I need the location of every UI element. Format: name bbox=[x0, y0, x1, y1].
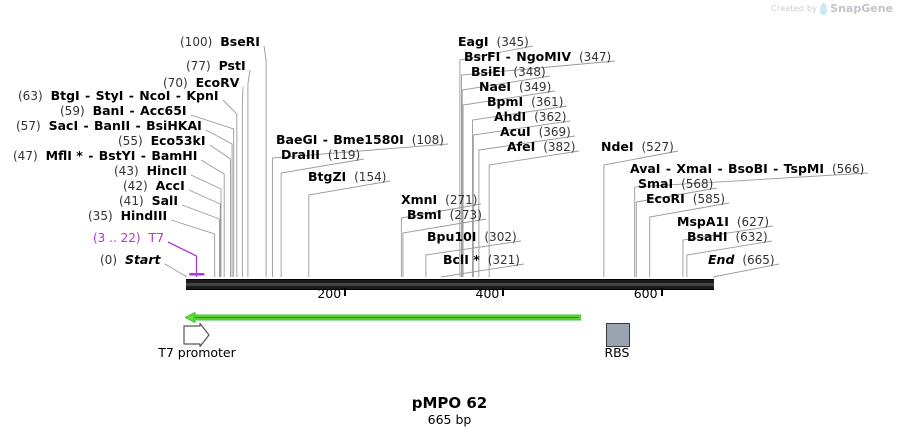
site-label-t7[interactable]: (3 .. 22) T7 bbox=[93, 231, 164, 245]
site-enzymes-bpmi: BpmI bbox=[487, 94, 523, 109]
ruler-label-200: 200 bbox=[317, 286, 344, 301]
site-label-draiii[interactable]: DraIII (119) bbox=[281, 148, 360, 162]
site-enzymes-bsiei: BsiEI bbox=[471, 64, 505, 79]
enzyme-name: BsoBI bbox=[728, 161, 768, 176]
site-label-baegi[interactable]: BaeGI - Bme1580I (108) bbox=[276, 133, 444, 147]
enzyme-name: BtgZI bbox=[308, 169, 346, 184]
restriction-site-labels: (100) BseRI(77) PstI(70) EcoRV(63) BtgI … bbox=[0, 0, 899, 275]
site-enzymes-bsrfi: BsrFI - NgoMIV bbox=[464, 49, 571, 64]
enzyme-name: SalI bbox=[152, 193, 178, 208]
enzyme-name: BseRI bbox=[220, 34, 260, 49]
enzyme-name: SacI bbox=[49, 118, 79, 133]
site-label-bani[interactable]: (59) BanI - Acc65I bbox=[60, 104, 187, 118]
enzyme-name: MflI * bbox=[46, 148, 83, 163]
ruler-tick-200 bbox=[344, 288, 346, 296]
enzyme-name: BsrFI bbox=[464, 49, 500, 64]
site-label-bsahi[interactable]: BsaHI (632) bbox=[687, 230, 768, 244]
site-enzymes-ecori: EcoRI bbox=[646, 191, 685, 206]
site-label-afei[interactable]: AfeI (382) bbox=[507, 140, 575, 154]
site-label-hincii[interactable]: (43) HincII bbox=[114, 164, 187, 178]
site-position-btgzi: (154) bbox=[354, 170, 386, 184]
site-position-acui: (369) bbox=[539, 125, 571, 139]
site-label-ndei[interactable]: NdeI (527) bbox=[601, 140, 674, 154]
enzyme-separator: - bbox=[78, 118, 94, 133]
enzyme-name: Eco53kI bbox=[151, 133, 206, 148]
site-enzymes-afei: AfeI bbox=[507, 139, 535, 154]
site-label-ecori[interactable]: EcoRI (585) bbox=[646, 192, 725, 206]
enzyme-name: BstYI bbox=[99, 148, 136, 163]
site-enzymes-bsahi: BsaHI bbox=[687, 229, 728, 244]
enzyme-separator: - bbox=[768, 161, 784, 176]
site-enzymes-avai: AvaI - XmaI - BsoBI - TspMI bbox=[630, 161, 824, 176]
enzyme-name: BsiEI bbox=[471, 64, 505, 79]
site-enzymes-draiii: DraIII bbox=[281, 147, 320, 162]
enzyme-name: EagI bbox=[458, 34, 489, 49]
enzyme-name: BtgI bbox=[51, 88, 80, 103]
enzyme-name: AhdI bbox=[494, 109, 526, 124]
site-position-t7: (3 .. 22) bbox=[93, 231, 141, 245]
site-position-avai: (566) bbox=[832, 162, 864, 176]
site-enzymes-saci: SacI - BanII - BsiHKAI bbox=[49, 118, 202, 133]
site-enzymes-bsmi: BsmI bbox=[407, 207, 442, 222]
enzyme-name: T7 bbox=[148, 230, 164, 245]
enzyme-name: HincII bbox=[147, 163, 187, 178]
site-label-xmni[interactable]: XmnI (271) bbox=[401, 193, 477, 207]
site-enzymes-baegi: BaeGI - Bme1580I bbox=[276, 132, 404, 147]
site-label-bseri[interactable]: (100) BseRI bbox=[180, 35, 260, 49]
enzyme-separator: - bbox=[660, 161, 676, 176]
site-enzymes-end: End bbox=[708, 252, 734, 267]
site-position-bsahi: (632) bbox=[735, 230, 767, 244]
site-position-bpmi: (361) bbox=[531, 95, 563, 109]
enzyme-separator: - bbox=[80, 88, 96, 103]
site-label-naei[interactable]: NaeI (349) bbox=[479, 80, 551, 94]
site-position-end: (665) bbox=[742, 253, 774, 267]
enzyme-name: TspMI bbox=[784, 161, 824, 176]
enzyme-name: AccI bbox=[156, 178, 185, 193]
enzyme-name: BsiHKAI bbox=[146, 118, 202, 133]
site-position-mfli: (47) bbox=[13, 149, 38, 163]
enzyme-name: End bbox=[708, 252, 734, 267]
enzyme-name: KpnI bbox=[186, 88, 218, 103]
site-enzymes-hindiii: HindIII bbox=[121, 208, 168, 223]
site-label-bsmi[interactable]: BsmI (273) bbox=[407, 208, 482, 222]
site-enzymes-bcli: BclI * bbox=[443, 252, 480, 267]
enzyme-name: Acc65I bbox=[140, 103, 187, 118]
site-position-bseri: (100) bbox=[180, 35, 212, 49]
site-label-mfli[interactable]: (47) MflI * - BstYI - BamHI bbox=[13, 149, 197, 163]
site-enzymes-start: Start bbox=[125, 252, 161, 267]
site-enzymes-sali: SalI bbox=[152, 193, 178, 208]
site-enzymes-acci: AccI bbox=[156, 178, 185, 193]
site-position-bsrfi: (347) bbox=[579, 50, 611, 64]
site-enzymes-btgi: BtgI - StyI - NcoI - KpnI bbox=[51, 88, 219, 103]
site-enzymes-psti: PstI bbox=[219, 58, 246, 73]
site-position-start: (0) bbox=[100, 253, 117, 267]
enzyme-name: BamHI bbox=[151, 148, 197, 163]
site-enzymes-eco53ki: Eco53kI bbox=[151, 133, 206, 148]
site-label-sali[interactable]: (41) SalI bbox=[119, 194, 178, 208]
enzyme-name: BanII bbox=[94, 118, 130, 133]
site-label-psti[interactable]: (77) PstI bbox=[186, 59, 246, 73]
site-enzymes-xmni: XmnI bbox=[401, 192, 437, 207]
enzyme-separator: - bbox=[124, 103, 140, 118]
site-label-bpu10i[interactable]: Bpu10I (302) bbox=[427, 230, 517, 244]
site-label-end[interactable]: End (665) bbox=[708, 253, 775, 267]
enzyme-name: HindIII bbox=[121, 208, 168, 223]
site-position-bsiei: (348) bbox=[513, 65, 545, 79]
feature-cds-arrow[interactable] bbox=[185, 308, 581, 319]
enzyme-name: BanI bbox=[93, 103, 125, 118]
enzyme-name: XmaI bbox=[676, 161, 712, 176]
enzyme-name: Bme1580I bbox=[333, 132, 403, 147]
plasmid-length: 665 bp bbox=[0, 412, 899, 427]
site-label-hindiii[interactable]: (35) HindIII bbox=[88, 209, 167, 223]
site-position-saci: (57) bbox=[16, 119, 41, 133]
site-position-eco53ki: (55) bbox=[118, 134, 143, 148]
site-label-bcli[interactable]: BclI * (321) bbox=[443, 253, 520, 267]
enzyme-name: XmnI bbox=[401, 192, 437, 207]
site-position-afei: (382) bbox=[543, 140, 575, 154]
enzyme-separator: - bbox=[123, 88, 139, 103]
site-position-bani: (59) bbox=[60, 104, 85, 118]
enzyme-name: AcuI bbox=[500, 124, 531, 139]
site-label-bsiei[interactable]: BsiEI (348) bbox=[471, 65, 546, 79]
enzyme-name: BclI * bbox=[443, 252, 480, 267]
site-position-naei: (349) bbox=[519, 80, 551, 94]
feature-t7-promoter-arrow[interactable] bbox=[183, 323, 211, 347]
enzyme-name: MspA1I bbox=[677, 214, 729, 229]
site-enzymes-ahdi: AhdI bbox=[494, 109, 526, 124]
enzyme-name: BpmI bbox=[487, 94, 523, 109]
enzyme-name: Bpu10I bbox=[427, 229, 476, 244]
enzyme-name: Start bbox=[125, 252, 161, 267]
site-label-ahdi[interactable]: AhdI (362) bbox=[494, 110, 566, 124]
enzyme-name: EcoRI bbox=[646, 191, 685, 206]
enzyme-name: AfeI bbox=[507, 139, 535, 154]
site-label-saci[interactable]: (57) SacI - BanII - BsiHKAI bbox=[16, 119, 202, 133]
site-label-btgzi[interactable]: BtgZI (154) bbox=[308, 170, 386, 184]
site-position-ndei: (527) bbox=[642, 140, 674, 154]
site-label-btgi[interactable]: (63) BtgI - StyI - NcoI - KpnI bbox=[18, 89, 219, 103]
enzyme-name: AvaI bbox=[630, 161, 660, 176]
site-label-smai[interactable]: SmaI (568) bbox=[638, 177, 713, 191]
site-position-mspa1i: (627) bbox=[737, 215, 769, 229]
bp-ruler: 200400600 bbox=[0, 288, 899, 308]
site-position-psti: (77) bbox=[186, 59, 211, 73]
feature-rbs-label: RBS bbox=[582, 345, 652, 360]
enzyme-separator: - bbox=[317, 132, 333, 147]
site-position-ahdi: (362) bbox=[534, 110, 566, 124]
site-enzymes-bseri: BseRI bbox=[220, 34, 260, 49]
site-label-start[interactable]: (0) Start bbox=[100, 253, 161, 267]
site-position-hincii: (43) bbox=[114, 164, 139, 178]
site-enzymes-t7: T7 bbox=[148, 230, 164, 245]
plasmid-title: pMPO 62 bbox=[0, 394, 899, 412]
enzyme-name: BaeGI bbox=[276, 132, 317, 147]
ruler-label-600: 600 bbox=[634, 286, 661, 301]
enzyme-name: PstI bbox=[219, 58, 246, 73]
site-enzymes-bpu10i: Bpu10I bbox=[427, 229, 476, 244]
enzyme-separator: - bbox=[712, 161, 728, 176]
site-label-avai[interactable]: AvaI - XmaI - BsoBI - TspMI (566) bbox=[630, 162, 864, 176]
feature-rbs-box[interactable] bbox=[606, 323, 630, 347]
site-enzymes-ndei: NdeI bbox=[601, 139, 634, 154]
enzyme-separator: - bbox=[170, 88, 186, 103]
site-position-bpu10i: (302) bbox=[484, 230, 516, 244]
site-position-ecori: (585) bbox=[693, 192, 725, 206]
site-enzymes-acui: AcuI bbox=[500, 124, 531, 139]
enzyme-name: DraIII bbox=[281, 147, 320, 162]
site-label-eco53ki[interactable]: (55) Eco53kI bbox=[118, 134, 206, 148]
enzyme-name: BsaHI bbox=[687, 229, 728, 244]
enzyme-name: SmaI bbox=[638, 176, 673, 191]
site-enzymes-eagi: EagI bbox=[458, 34, 489, 49]
enzyme-separator: - bbox=[130, 118, 146, 133]
site-position-smai: (568) bbox=[681, 177, 713, 191]
ruler-tick-600 bbox=[661, 288, 663, 296]
snapgene-linear-map: Created by SnapGene (100) BseRI(77) PstI… bbox=[0, 0, 899, 434]
site-enzymes-naei: NaeI bbox=[479, 79, 511, 94]
site-position-bcli: (321) bbox=[488, 253, 520, 267]
site-label-eagi[interactable]: EagI (345) bbox=[458, 35, 529, 49]
enzyme-name: NaeI bbox=[479, 79, 511, 94]
enzyme-separator: - bbox=[500, 49, 516, 64]
site-position-hindiii: (35) bbox=[88, 209, 113, 223]
enzyme-name: NdeI bbox=[601, 139, 634, 154]
site-enzymes-smai: SmaI bbox=[638, 176, 673, 191]
site-enzymes-btgzi: BtgZI bbox=[308, 169, 346, 184]
site-position-eagi: (345) bbox=[497, 35, 529, 49]
site-enzymes-mspa1i: MspA1I bbox=[677, 214, 729, 229]
site-enzymes-hincii: HincII bbox=[147, 163, 187, 178]
site-label-acui[interactable]: AcuI (369) bbox=[500, 125, 571, 139]
site-enzymes-bani: BanI - Acc65I bbox=[93, 103, 187, 118]
enzyme-name: StyI bbox=[96, 88, 124, 103]
site-position-acci: (42) bbox=[123, 179, 148, 193]
ruler-label-400: 400 bbox=[476, 286, 503, 301]
enzyme-name: BsmI bbox=[407, 207, 442, 222]
ruler-tick-400 bbox=[502, 288, 504, 296]
site-enzymes-mfli: MflI * - BstYI - BamHI bbox=[46, 148, 198, 163]
feature-t7-promoter-label: T7 promoter bbox=[152, 345, 242, 360]
site-position-xmni: (271) bbox=[445, 193, 477, 207]
enzyme-separator: - bbox=[135, 148, 151, 163]
site-position-bsmi: (273) bbox=[450, 208, 482, 222]
site-label-acci[interactable]: (42) AccI bbox=[123, 179, 185, 193]
enzyme-name: NgoMIV bbox=[516, 49, 571, 64]
enzyme-name: NcoI bbox=[139, 88, 170, 103]
site-position-btgi: (63) bbox=[18, 89, 43, 103]
site-label-bpmi[interactable]: BpmI (361) bbox=[487, 95, 563, 109]
site-position-baegi: (108) bbox=[412, 133, 444, 147]
enzyme-separator: - bbox=[83, 148, 99, 163]
site-label-mspa1i[interactable]: MspA1I (627) bbox=[677, 215, 769, 229]
site-position-sali: (41) bbox=[119, 194, 144, 208]
site-position-draiii: (119) bbox=[328, 148, 360, 162]
site-label-bsrfi[interactable]: BsrFI - NgoMIV (347) bbox=[464, 50, 611, 64]
